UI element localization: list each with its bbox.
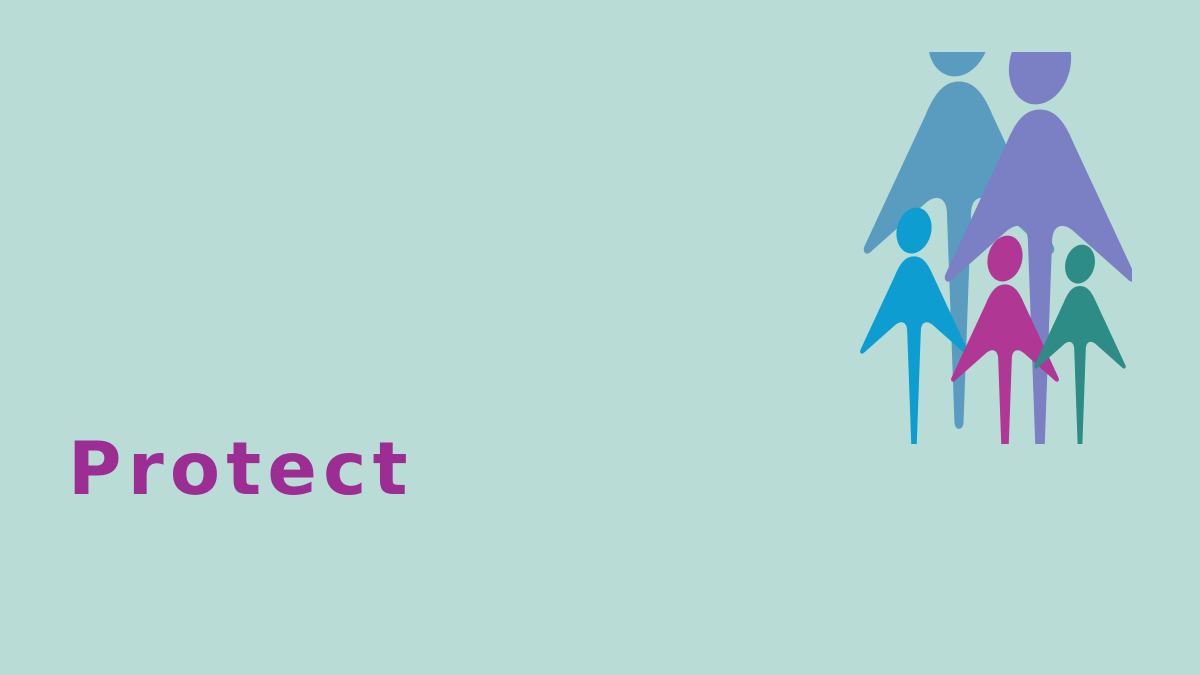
page-title: Protect yourself and your baby this flu …: [68, 252, 748, 675]
poster-canvas: Protect yourself and your baby this flu …: [0, 0, 1200, 675]
family-silhouettes-graphic: [858, 52, 1132, 444]
headline-line-1: Protect: [68, 426, 748, 513]
